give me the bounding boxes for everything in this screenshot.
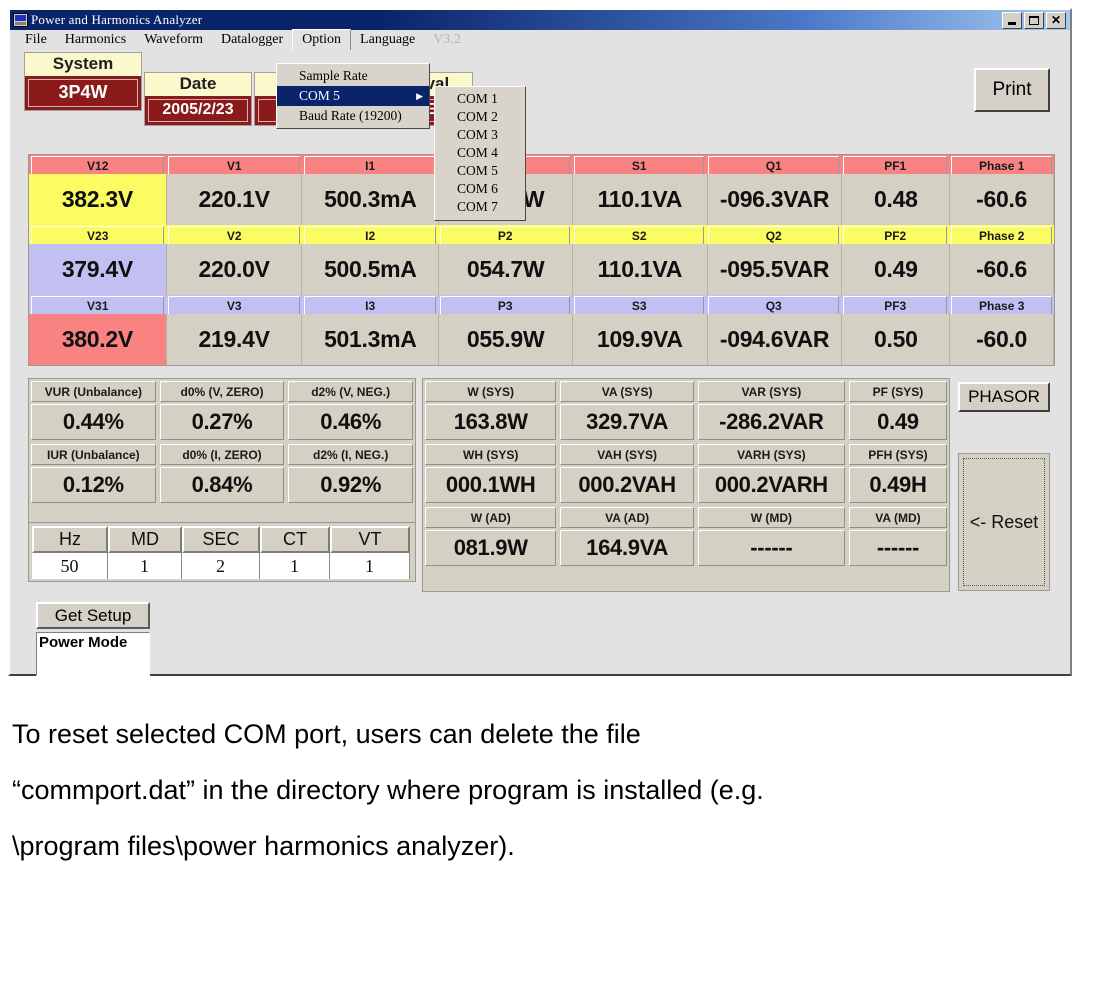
measurement-value-cell: 382.3V xyxy=(29,174,167,225)
com-port-menu-item[interactable]: COM 3 xyxy=(435,126,525,144)
app-icon xyxy=(13,13,28,27)
system-value-row: 163.8W329.7VA-286.2VAR0.49 xyxy=(423,402,949,442)
date-value: 2005/2/23 xyxy=(145,96,251,125)
system-totals-panel: W (SYS)VA (SYS)VAR (SYS)PF (SYS)163.8W32… xyxy=(422,378,950,592)
system-value-cell: 0.49 xyxy=(849,404,947,440)
measurement-header-cell: V1 xyxy=(168,156,300,175)
system-value-cell: 164.9VA xyxy=(560,530,693,566)
measurement-value-cell: 054.7W xyxy=(439,244,573,295)
com-port-menu-item[interactable]: COM 5 xyxy=(435,162,525,180)
print-button[interactable]: Print xyxy=(974,68,1050,112)
com-port-menu-item[interactable]: COM 7 xyxy=(435,198,525,216)
measurement-value-cell: 219.4V xyxy=(167,314,303,365)
system-header-cell: VAR (SYS) xyxy=(698,381,845,402)
measurement-header-row: V12V1I1P1S1Q1PF1Phase 1 xyxy=(29,155,1054,174)
system-header-cell: VARH (SYS) xyxy=(698,444,845,465)
system-header-cell: PF (SYS) xyxy=(849,381,947,402)
measurement-header-cell: Q3 xyxy=(708,296,839,315)
unbalance-header-row: IUR (Unbalance)d0% (I, ZERO)d2% (I, NEG.… xyxy=(29,442,415,465)
option-menu-item[interactable]: COM 5▶ xyxy=(277,86,429,106)
menu-harmonics[interactable]: Harmonics xyxy=(56,30,135,50)
unbalance-header-cell: VUR (Unbalance) xyxy=(31,381,156,402)
option-menu-item[interactable]: Baud Rate (19200) xyxy=(277,106,429,126)
measurement-value-cell: 0.49 xyxy=(842,244,950,295)
measurement-value-cell: 055.9W xyxy=(439,314,573,365)
settings-header-row: HzMDSECCTVT xyxy=(32,526,412,553)
date-label: Date xyxy=(145,73,251,96)
get-setup-button[interactable]: Get Setup xyxy=(36,602,150,629)
minimize-icon[interactable] xyxy=(1002,12,1022,29)
measurement-header-cell: I3 xyxy=(304,296,436,315)
measurement-value-cell: 0.50 xyxy=(842,314,950,365)
measurement-header-cell: Phase 3 xyxy=(951,296,1052,315)
measurement-value-cell: 110.1VA xyxy=(573,244,708,295)
measurement-value-cell: -60.0 xyxy=(950,314,1054,365)
system-info-box: System 3P4W xyxy=(24,52,142,111)
settings-header-cell: VT xyxy=(330,526,410,553)
measurement-header-cell: V2 xyxy=(168,226,300,245)
measurement-value-cell: -60.6 xyxy=(950,244,1054,295)
option-menu-item-label: COM 5 xyxy=(299,88,340,104)
com-port-menu-item[interactable]: COM 1 xyxy=(435,90,525,108)
measurement-value-cell: 220.1V xyxy=(167,174,303,225)
option-menu-item[interactable]: Sample Rate xyxy=(277,66,429,86)
caption-line-3: \program files\power harmonics analyzer)… xyxy=(12,818,1092,874)
measurement-header-cell: P2 xyxy=(440,226,570,245)
system-value-row: 000.1WH000.2VAH000.2VARH0.49H xyxy=(423,465,949,505)
figure-caption: To reset selected COM port, users can de… xyxy=(12,706,1092,874)
power-mode-field[interactable]: Power Mode xyxy=(36,632,150,676)
settings-header-cell: Hz xyxy=(32,526,108,553)
measurement-value-cell: 109.9VA xyxy=(573,314,708,365)
measurement-value-cell: 379.4V xyxy=(29,244,167,295)
caption-line-2: “commport.dat” in the directory where pr… xyxy=(12,762,1092,818)
system-value-row: 081.9W164.9VA------------ xyxy=(423,528,949,568)
measurement-value-cell: 220.0V xyxy=(167,244,303,295)
system-value-cell: ------ xyxy=(698,530,845,566)
settings-strip: HzMDSECCTVT 501211 xyxy=(28,522,416,582)
measurement-value-cell: 500.3mA xyxy=(302,174,439,225)
measurement-value-cell: 380.2V xyxy=(29,314,167,365)
menu-option[interactable]: Option xyxy=(292,29,351,50)
measurement-header-cell: S3 xyxy=(574,296,705,315)
com-port-menu-item[interactable]: COM 6 xyxy=(435,180,525,198)
settings-value-cell[interactable]: 1 xyxy=(260,553,330,579)
system-label: System xyxy=(25,53,141,76)
system-value-cell: -286.2VAR xyxy=(698,404,845,440)
unbalance-value-row: 0.44%0.27%0.46% xyxy=(29,402,415,442)
measurement-header-cell: PF3 xyxy=(843,296,947,315)
measurement-header-cell: V31 xyxy=(31,296,164,315)
unbalance-header-row: VUR (Unbalance)d0% (V, ZERO)d2% (V, NEG.… xyxy=(29,379,415,402)
system-value-cell: 000.2VAH xyxy=(560,467,693,503)
system-header-cell: WH (SYS) xyxy=(425,444,556,465)
menu-language[interactable]: Language xyxy=(351,30,424,50)
settings-value-cell[interactable]: 2 xyxy=(182,553,260,579)
system-value-cell: 329.7VA xyxy=(560,404,693,440)
com-port-submenu: COM 1COM 2COM 3COM 4COM 5COM 6COM 7 xyxy=(434,86,526,221)
system-header-cell: VA (SYS) xyxy=(560,381,693,402)
measurement-header-cell: Q2 xyxy=(708,226,839,245)
title-bar: Power and Harmonics Analyzer ✕ xyxy=(10,10,1070,30)
system-header-cell: VA (MD) xyxy=(849,507,947,528)
settings-header-cell: SEC xyxy=(182,526,260,553)
unbalance-value-cell: 0.27% xyxy=(160,404,285,440)
unbalance-header-cell: d0% (V, ZERO) xyxy=(160,381,285,402)
caption-line-1: To reset selected COM port, users can de… xyxy=(12,706,1092,762)
date-info-box: Date 2005/2/23 xyxy=(144,72,252,126)
unbalance-value-cell: 0.46% xyxy=(288,404,413,440)
reset-button-label: <- Reset xyxy=(970,512,1039,533)
reset-button[interactable]: <- Reset xyxy=(958,453,1050,591)
unbalance-value-cell: 0.84% xyxy=(160,467,285,503)
submenu-arrow-icon: ▶ xyxy=(416,92,423,101)
window-title: Power and Harmonics Analyzer xyxy=(31,12,202,28)
unbalance-value-cell: 0.92% xyxy=(288,467,413,503)
settings-value-cell[interactable]: 1 xyxy=(108,553,182,579)
settings-value-cell[interactable]: 1 xyxy=(330,553,410,579)
measurement-value-row: 379.4V220.0V500.5mA054.7W110.1VA-095.5VA… xyxy=(29,244,1054,295)
measurement-header-cell: V3 xyxy=(168,296,300,315)
unbalance-header-cell: d0% (I, ZERO) xyxy=(160,444,285,465)
system-header-row: W (SYS)VA (SYS)VAR (SYS)PF (SYS) xyxy=(423,379,949,402)
option-dropdown-menu: Sample RateCOM 5▶Baud Rate (19200) xyxy=(276,63,430,129)
settings-value-cell[interactable]: 50 xyxy=(32,553,108,579)
unbalance-header-cell: IUR (Unbalance) xyxy=(31,444,156,465)
measurement-header-cell: Phase 1 xyxy=(951,156,1052,175)
com-port-menu-item[interactable]: COM 2 xyxy=(435,108,525,126)
measurement-header-row: V31V3I3P3S3Q3PF3Phase 3 xyxy=(29,295,1054,314)
measurement-table: V12V1I1P1S1Q1PF1Phase 1382.3V220.1V500.3… xyxy=(28,154,1055,366)
system-value-cell: ------ xyxy=(849,530,947,566)
option-menu-item-label: Baud Rate (19200) xyxy=(299,108,402,124)
unbalance-value-cell: 0.44% xyxy=(31,404,156,440)
close-icon[interactable]: ✕ xyxy=(1046,12,1066,29)
measurement-header-cell: Phase 2 xyxy=(951,226,1052,245)
system-header-row: W (AD)VA (AD)W (MD)VA (MD) xyxy=(423,505,949,528)
system-header-cell: PFH (SYS) xyxy=(849,444,947,465)
measurement-value-row: 380.2V219.4V501.3mA055.9W109.9VA-094.6VA… xyxy=(29,314,1054,365)
settings-header-cell: MD xyxy=(108,526,182,553)
system-header-cell: W (AD) xyxy=(425,507,556,528)
measurement-value-cell: -60.6 xyxy=(950,174,1054,225)
menu-waveform[interactable]: Waveform xyxy=(135,30,212,50)
measurement-header-cell: PF2 xyxy=(843,226,947,245)
measurement-value-cell: 500.5mA xyxy=(302,244,439,295)
measurement-value-cell: -096.3VAR xyxy=(708,174,843,225)
menu-version-label: V3.2 xyxy=(424,30,470,50)
menu-file[interactable]: File xyxy=(16,30,56,50)
system-header-cell: W (MD) xyxy=(698,507,845,528)
top-info-strip: System 3P4W Date 2005/2/23 Time 16.32.00… xyxy=(10,50,1070,128)
unbalance-value-row: 0.12%0.84%0.92% xyxy=(29,465,415,505)
system-value-cell: 000.1WH xyxy=(425,467,556,503)
maximize-icon[interactable] xyxy=(1024,12,1044,29)
option-menu-item-label: Sample Rate xyxy=(299,68,368,84)
measurement-value-row: 382.3V220.1V500.3mA055.1W110.1VA-096.3VA… xyxy=(29,174,1054,225)
measurement-header-cell: PF1 xyxy=(843,156,947,175)
measurement-value-cell: -095.5VAR xyxy=(708,244,843,295)
system-value-cell: 081.9W xyxy=(425,530,556,566)
measurement-header-cell: V12 xyxy=(31,156,164,175)
system-header-cell: VAH (SYS) xyxy=(560,444,693,465)
window-controls: ✕ xyxy=(1002,12,1068,29)
measurement-value-cell: 0.48 xyxy=(842,174,950,225)
measurement-value-cell: 501.3mA xyxy=(302,314,439,365)
system-header-cell: VA (AD) xyxy=(560,507,693,528)
com-port-menu-item[interactable]: COM 4 xyxy=(435,144,525,162)
measurement-header-cell: S2 xyxy=(574,226,705,245)
unbalance-header-cell: d2% (V, NEG.) xyxy=(288,381,413,402)
system-value-cell: 163.8W xyxy=(425,404,556,440)
application-window: Power and Harmonics Analyzer ✕ File Harm… xyxy=(8,8,1072,676)
measurement-header-cell: S1 xyxy=(574,156,705,175)
settings-value-row: 501211 xyxy=(32,553,412,579)
measurement-header-cell: P3 xyxy=(440,296,570,315)
system-value-cell: 0.49H xyxy=(849,467,947,503)
unbalance-panel: VUR (Unbalance)d0% (V, ZERO)d2% (V, NEG.… xyxy=(28,378,416,528)
measurement-value-cell: 110.1VA xyxy=(573,174,708,225)
settings-header-cell: CT xyxy=(260,526,330,553)
system-value: 3P4W xyxy=(25,76,141,110)
unbalance-value-cell: 0.12% xyxy=(31,467,156,503)
phasor-button[interactable]: PHASOR xyxy=(958,382,1050,412)
unbalance-header-cell: d2% (I, NEG.) xyxy=(288,444,413,465)
measurement-header-cell: I2 xyxy=(304,226,436,245)
system-value-cell: 000.2VARH xyxy=(698,467,845,503)
measurement-header-cell: Q1 xyxy=(708,156,839,175)
system-header-row: WH (SYS)VAH (SYS)VARH (SYS)PFH (SYS) xyxy=(423,442,949,465)
menu-datalogger[interactable]: Datalogger xyxy=(212,30,292,50)
measurement-header-row: V23V2I2P2S2Q2PF2Phase 2 xyxy=(29,225,1054,244)
system-header-cell: W (SYS) xyxy=(425,381,556,402)
measurement-header-cell: I1 xyxy=(304,156,436,175)
menu-bar: File Harmonics Waveform Datalogger Optio… xyxy=(10,30,1070,50)
measurement-value-cell: -094.6VAR xyxy=(708,314,843,365)
measurement-header-cell: V23 xyxy=(31,226,164,245)
